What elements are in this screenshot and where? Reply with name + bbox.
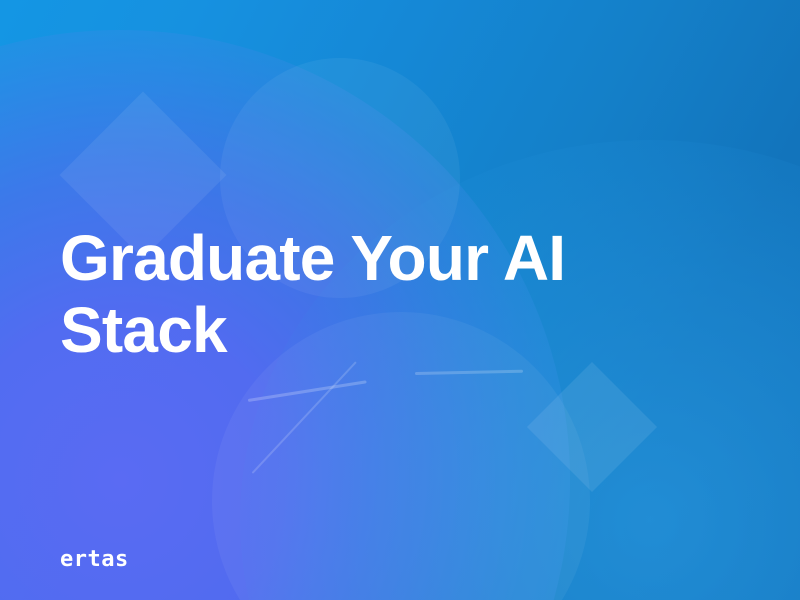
title-slide: Graduate Your AI Stack ertas (0, 0, 800, 600)
brand-logo: ertas (60, 547, 129, 572)
slide-content: Graduate Your AI Stack ertas (0, 0, 800, 600)
slide-headline: Graduate Your AI Stack (60, 222, 580, 366)
